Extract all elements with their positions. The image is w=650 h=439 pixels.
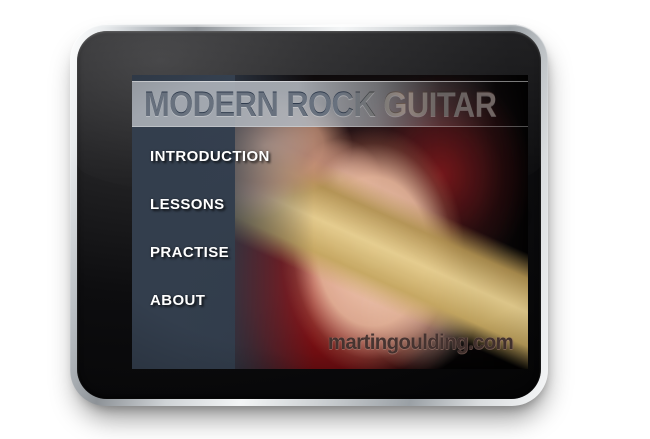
tablet-device-frame: MODERN ROCK GUITAR Introduction Lessons …	[70, 24, 548, 406]
tablet-bezel: MODERN ROCK GUITAR Introduction Lessons …	[77, 31, 541, 399]
page-canvas: MODERN ROCK GUITAR Introduction Lessons …	[0, 0, 650, 439]
nav-item-practise[interactable]: Practise	[150, 239, 270, 261]
page-title: MODERN ROCK GUITAR	[144, 87, 497, 122]
tablet-screen[interactable]: MODERN ROCK GUITAR Introduction Lessons …	[132, 75, 528, 369]
site-watermark: martingoulding.com	[328, 331, 513, 355]
site-banner: MODERN ROCK GUITAR	[132, 81, 528, 127]
main-navigation: Introduction Lessons Practise About	[150, 143, 270, 309]
nav-item-introduction[interactable]: Introduction	[150, 143, 270, 165]
nav-item-lessons[interactable]: Lessons	[150, 191, 270, 213]
nav-item-about[interactable]: About	[150, 287, 270, 309]
